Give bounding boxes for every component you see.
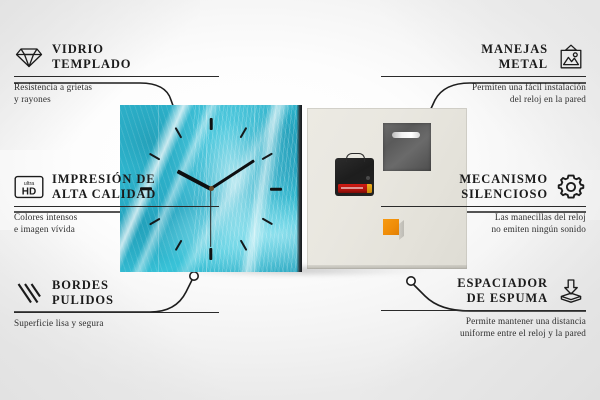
movement-knob [366,176,370,180]
battery-label [341,187,363,189]
feature-title-line1: ESPACIADOR [457,276,548,291]
feature-subtitle: Permite mantener una distancia uniforme … [381,315,586,340]
feature-subtitle-line1: Permiten una fácil instalación [381,81,586,93]
feature-subtitle-line1: Permite mantener una distancia [381,315,586,327]
feature-manejas-metal: MANEJAS METAL Permiten una fácil instala… [381,42,586,106]
feature-title-line2: ALTA CALIDAD [52,187,156,202]
diamond-icon [14,42,44,72]
feature-subtitle: Las manecillas del reloj no emiten ningú… [381,211,586,236]
hour-marker [210,118,213,130]
feature-subtitle-line2: e imagen vívida [14,223,219,235]
feature-header: MECANISMO SILENCIOSO [381,172,586,202]
feature-title: IMPRESIÓN DE ALTA CALIDAD [52,172,156,202]
gear-icon [556,172,586,202]
back-panel-bottom-bevel [307,265,467,269]
feature-title: MECANISMO SILENCIOSO [459,172,548,202]
feature-subtitle-line1: Colores intensos [14,211,219,223]
feature-subtitle-line1: Superficie lisa y segura [14,317,219,329]
ultra-hd-icon: ultra HD [14,172,44,202]
feature-header: VIDRIO TEMPLADO [14,42,219,72]
feature-header: ultra HD IMPRESIÓN DE ALTA CALIDAD [14,172,219,202]
feature-bordes-pulidos: BORDES PULIDOS Superficie lisa y segura [14,278,219,329]
feature-subtitle-line1: Resistencia a grietas [14,81,219,93]
hour-marker [210,248,213,260]
feature-impresion-alta-calidad: ultra HD IMPRESIÓN DE ALTA CALIDAD Color… [14,172,219,236]
feature-divider [381,310,586,311]
feature-title-line1: VIDRIO [52,42,131,57]
feature-title-line2: SILENCIOSO [459,187,548,202]
diagonal-lines-icon [14,278,44,308]
feature-subtitle-line1: Las manecillas del reloj [381,211,586,223]
feature-title-line1: IMPRESIÓN DE [52,172,156,187]
feature-divider [381,76,586,77]
hanger-keyhole-slot [392,132,420,138]
battery [338,184,372,193]
feature-divider [14,312,219,313]
feature-divider [14,206,219,207]
feature-divider [14,76,219,77]
picture-frame-hanger-icon [556,42,586,72]
feature-title-line2: PULIDOS [52,293,114,308]
glass-seam [254,105,255,272]
hour-marker [270,187,282,190]
feature-subtitle-line2: del reloj en la pared [381,93,586,105]
feature-title-line1: MECANISMO [459,172,548,187]
feature-header: BORDES PULIDOS [14,278,219,308]
feature-title: MANEJAS METAL [481,42,548,72]
feature-title: BORDES PULIDOS [52,278,114,308]
infographic-canvas: VIDRIO TEMPLADO Resistencia a grietas y … [0,0,600,400]
feature-espaciador-de-espuma: ESPACIADOR DE ESPUMA Permite mantener un… [381,276,586,340]
feature-subtitle: Permiten una fácil instalación del reloj… [381,81,586,106]
feature-subtitle-line2: y rayones [14,93,219,105]
feature-subtitle: Resistencia a grietas y rayones [14,81,219,106]
feature-header: MANEJAS METAL [381,42,586,72]
metal-hanger-plate [383,123,431,171]
feature-title-line2: TEMPLADO [52,57,131,72]
battery-cap [367,184,372,193]
feature-title-line1: BORDES [52,278,114,293]
glass-right-edge [297,105,302,272]
feature-subtitle: Colores intensos e imagen vívida [14,211,219,236]
svg-text:HD: HD [22,186,36,197]
feature-subtitle: Superficie lisa y segura [14,317,219,329]
feature-title: ESPACIADOR DE ESPUMA [457,276,548,306]
feature-mecanismo-silencioso: MECANISMO SILENCIOSO Las manecillas del … [381,172,586,236]
feature-subtitle-line2: uniforme entre el reloj y la pared [381,327,586,339]
movement-hanging-loop [346,153,365,162]
feature-title: VIDRIO TEMPLADO [52,42,131,72]
arrow-down-pad-icon [556,276,586,306]
feature-vidrio-templado: VIDRIO TEMPLADO Resistencia a grietas y … [14,42,219,106]
feature-subtitle-line2: no emiten ningún sonido [381,223,586,235]
clock-movement-box [335,158,374,196]
feature-title-line2: DE ESPUMA [457,291,548,306]
feature-header: ESPACIADOR DE ESPUMA [381,276,586,306]
feature-title-line1: MANEJAS [481,42,548,57]
feature-title-line2: METAL [481,57,548,72]
feature-divider [381,206,586,207]
